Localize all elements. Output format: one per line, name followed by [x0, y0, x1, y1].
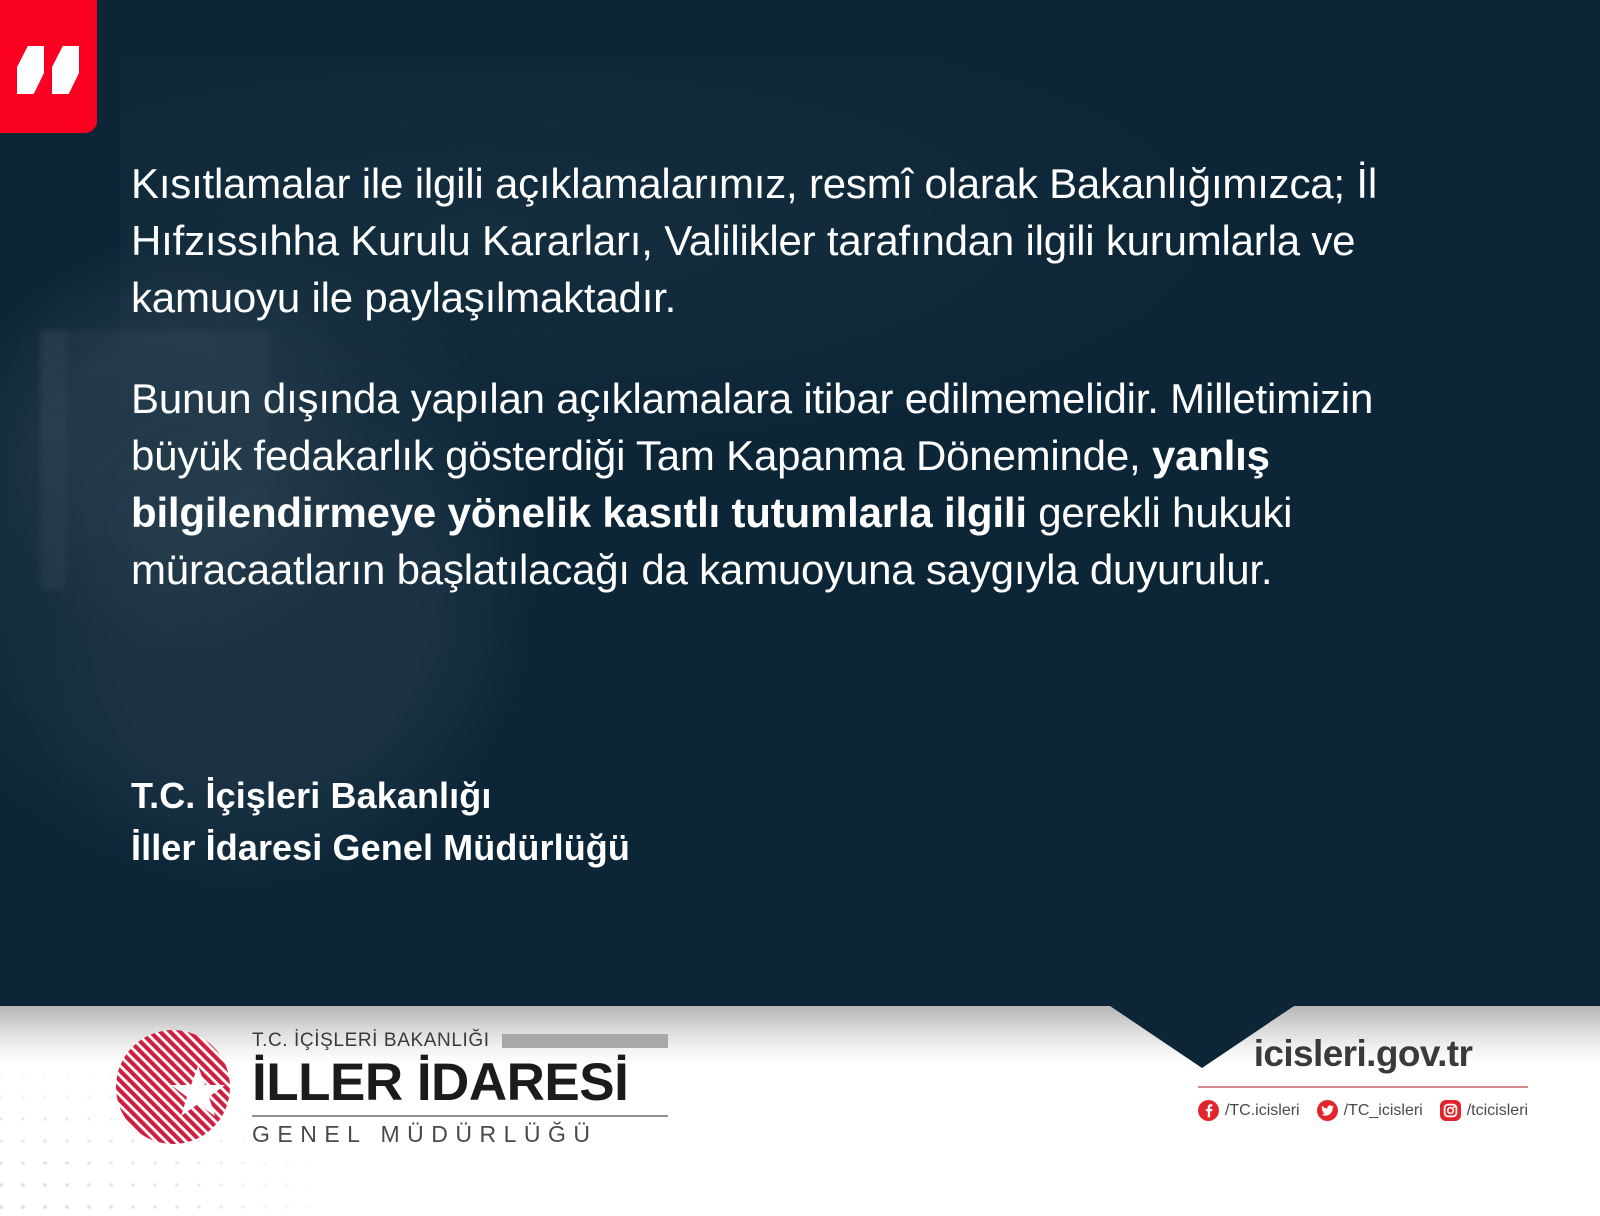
social-link-facebook[interactable]: /TC.icisleri [1198, 1100, 1300, 1121]
brand-divider [252, 1115, 668, 1117]
brand-ministry-bar [502, 1034, 668, 1048]
brand-ministry-label: T.C. İÇİŞLERİ BAKANLIĞI [252, 1030, 490, 1052]
turkey-crescent-star-emblem [112, 1026, 234, 1148]
quote-mark-icon [17, 46, 79, 94]
brand-wordmark: T.C. İÇİŞLERİ BAKANLIĞI İLLER İDARESİ GE… [252, 1026, 668, 1148]
announcement-copy: Kısıtlamalar ile ilgili açıklamalarımız,… [131, 155, 1471, 598]
facebook-icon [1198, 1100, 1219, 1121]
paragraph-one: Kısıtlamalar ile ilgili açıklamalarımız,… [131, 155, 1471, 326]
social-link-twitter[interactable]: /TC_icisleri [1317, 1100, 1423, 1121]
footer: T.C. İÇİŞLERİ BAKANLIĞI İLLER İDARESİ GE… [0, 1006, 1600, 1216]
brand-lockup: T.C. İÇİŞLERİ BAKANLIĞI İLLER İDARESİ GE… [112, 1026, 668, 1148]
signature-block: T.C. İçişleri Bakanlığı İller İdaresi Ge… [131, 770, 630, 874]
web-divider [1198, 1086, 1528, 1088]
twitter-handle: /TC_icisleri [1344, 1102, 1423, 1120]
signature-ministry: T.C. İçişleri Bakanlığı [131, 770, 630, 822]
instagram-icon [1440, 1100, 1461, 1121]
brand-ministry-row: T.C. İÇİŞLERİ BAKANLIĞI [252, 1030, 668, 1052]
announcement-card: Kısıtlamalar ile ilgili açıklamalarımız,… [0, 0, 1600, 1216]
instagram-handle: /tcicisleri [1467, 1102, 1528, 1120]
quote-badge [0, 0, 97, 133]
facebook-handle: /TC.icisleri [1225, 1102, 1300, 1120]
social-links-row: /TC.icisleri /TC_icisleri [1198, 1100, 1528, 1121]
brand-subtitle: GENEL MÜDÜRLÜĞÜ [252, 1121, 668, 1148]
signature-directorate: İller İdaresi Genel Müdürlüğü [131, 822, 630, 874]
social-link-instagram[interactable]: /tcicisleri [1440, 1100, 1528, 1121]
panel-notch-triangle [1110, 1006, 1294, 1068]
twitter-icon [1317, 1100, 1338, 1121]
paragraph-two: Bunun dışında yapılan açıklamalara itiba… [131, 370, 1471, 598]
brand-title: İLLER İDARESİ [252, 1054, 668, 1112]
